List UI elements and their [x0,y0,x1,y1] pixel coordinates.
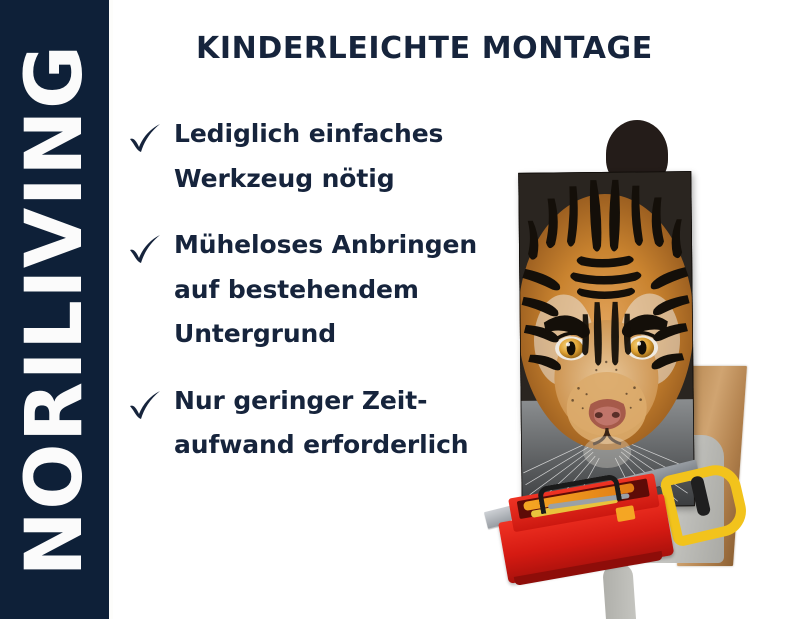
list-item: Lediglich einfaches Werkzeug nötig [126,112,518,201]
page-title: KINDERLEICHTE MONTAGE [196,32,653,65]
brand-name-vertical: NORILIVING [16,43,94,576]
brand-sidebar: NORILIVING [0,0,109,619]
list-item-label: Lediglich einfaches Werkzeug nötig [174,112,518,201]
check-icon [126,229,166,269]
list-item-label: Müheloses Anbringen auf bestehendem Unte… [174,223,518,357]
product-photo [498,120,799,619]
check-icon [126,385,166,425]
poster-canvas: NORILIVING KINDERLEICHTE MONTAGE Ledigli… [0,0,799,619]
list-item: Müheloses Anbringen auf bestehendem Unte… [126,223,518,357]
check-icon [126,118,166,158]
benefit-list: Lediglich einfaches Werkzeug nötig Mühel… [126,112,518,468]
list-item-label: Nur geringer Zeit-aufwand erforderlich [174,379,518,468]
tiger-canvas-panel [518,171,694,508]
sidebar-divider [109,0,113,619]
list-item: Nur geringer Zeit-aufwand erforderlich [126,379,518,468]
sleeve-left [602,562,640,619]
